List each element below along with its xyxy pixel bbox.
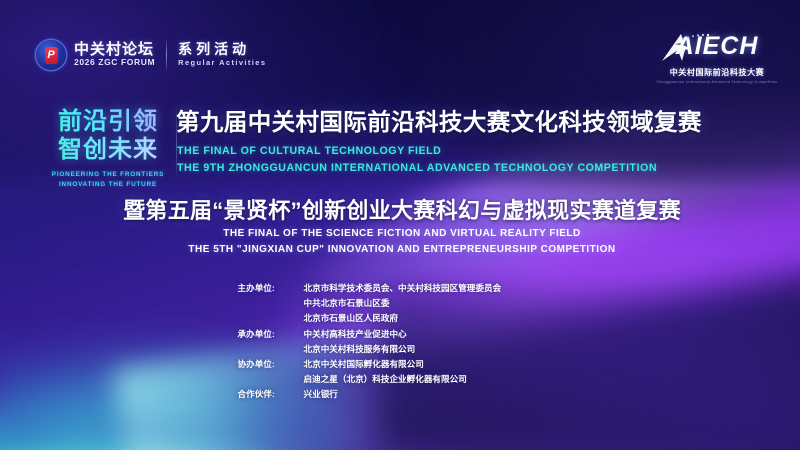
organizer-label: 协办单位: xyxy=(238,360,304,369)
slogan-cn-line1: 前沿引领 xyxy=(44,108,172,136)
organizer-row-inner: 协办单位:北京中关村国际孵化器有限公司 xyxy=(238,360,563,369)
organizer-row-inner: 北京市石景山区人民政府 xyxy=(238,314,563,323)
aiech-dots-icon xyxy=(680,33,716,42)
zgc-forum-logo: P 中关村论坛 2026 ZGC FORUM 系列活动 Regular Acti… xyxy=(36,40,266,70)
slogan-en-line2: INNOVATING THE FUTURE xyxy=(44,180,172,190)
organizer-value: 北京中关村国际孵化器有限公司 xyxy=(304,360,424,369)
organizer-row: 启迪之星（北京）科技企业孵化器有限公司 xyxy=(0,375,800,384)
organizer-row-inner: 启迪之星（北京）科技企业孵化器有限公司 xyxy=(238,375,563,384)
organizer-row-inner: 主办单位:北京市科学技术委员会、中关村科技园区管理委员会 xyxy=(238,284,563,293)
secondary-title-en-line1: THE FINAL OF THE SCIENCE FICTION AND VIR… xyxy=(52,226,752,242)
organizer-row: 协办单位:北京中关村国际孵化器有限公司 xyxy=(0,360,800,369)
secondary-title-en: THE FINAL OF THE SCIENCE FICTION AND VIR… xyxy=(52,226,752,259)
primary-title-cn: 第九届中关村国际前沿科技大赛文化科技领域复赛 xyxy=(176,108,792,137)
slogan-block: 前沿引领 智创未来 PIONEERING THE FRONTIERS INNOV… xyxy=(44,108,172,190)
zgc-emblem-letter: P xyxy=(47,50,54,61)
poster-canvas: P 中关村论坛 2026 ZGC FORUM 系列活动 Regular Acti… xyxy=(0,0,800,450)
aiech-logo: AIECH 中关村国际前沿科技大赛 Zhongguancun Internati… xyxy=(656,34,778,84)
slogan-cn-line2: 智创未来 xyxy=(44,136,172,164)
organizer-list: 主办单位:北京市科学技术委员会、中关村科技园区管理委员会中共北京市石景山区委北京… xyxy=(0,284,800,399)
organizer-label: 合作伙伴: xyxy=(238,390,304,399)
aiech-logo-cn: 中关村国际前沿科技大赛 xyxy=(656,67,778,78)
organizer-row: 主办单位:北京市科学技术委员会、中关村科技园区管理委员会 xyxy=(0,284,800,293)
primary-title-en-line1: THE FINAL OF CULTURAL TECHNOLOGY FIELD xyxy=(177,143,797,160)
slogan-en-line1: PIONEERING THE FRONTIERS xyxy=(44,170,172,180)
organizer-row: 北京中关村科技服务有限公司 xyxy=(0,345,800,354)
organizer-label: 承办单位: xyxy=(238,330,304,339)
slogan-en: PIONEERING THE FRONTIERS INNOVATING THE … xyxy=(44,170,172,190)
organizer-row-inner: 合作伙伴:兴业银行 xyxy=(238,390,563,399)
zgc-logo-cn: 中关村论坛 xyxy=(74,42,155,58)
header-bar: P 中关村论坛 2026 ZGC FORUM 系列活动 Regular Acti… xyxy=(0,0,800,96)
organizer-row: 合作伙伴:兴业银行 xyxy=(0,390,800,399)
organizer-value: 北京市科学技术委员会、中关村科技园区管理委员会 xyxy=(304,284,502,293)
aiech-logo-en: Zhongguancun International Advanced Tech… xyxy=(656,80,778,84)
primary-title-en-line2: THE 9TH ZHONGGUANCUN INTERNATIONAL ADVAN… xyxy=(177,160,797,177)
secondary-title-en-line2: THE 5TH "JINGXIAN CUP" INNOVATION AND EN… xyxy=(52,242,752,258)
organizer-row-inner: 北京中关村科技服务有限公司 xyxy=(238,345,563,354)
organizer-value: 启迪之星（北京）科技企业孵化器有限公司 xyxy=(304,375,467,384)
organizer-label xyxy=(238,345,304,354)
organizer-row: 北京市石景山区人民政府 xyxy=(0,314,800,323)
series-activity-text: 系列活动 Regular Activities xyxy=(178,42,266,69)
secondary-title-cn: 暨第五届“景贤杯”创新创业大赛科幻与虚拟现实赛道复赛 xyxy=(52,198,752,225)
zgc-emblem-icon: P xyxy=(36,40,66,70)
organizer-value: 中关村高科技产业促进中心 xyxy=(304,330,407,339)
organizer-row: 承办单位:中关村高科技产业促进中心 xyxy=(0,330,800,339)
organizer-row-inner: 承办单位:中关村高科技产业促进中心 xyxy=(238,330,563,339)
aiech-wordmark-wrap: AIECH xyxy=(656,34,778,65)
series-activity-en: Regular Activities xyxy=(178,57,266,68)
organizer-value: 中共北京市石景山区委 xyxy=(304,299,390,308)
organizer-row: 中共北京市石景山区委 xyxy=(0,299,800,308)
organizer-label xyxy=(238,314,304,323)
series-activity-cn: 系列活动 xyxy=(178,42,266,57)
zgc-logo-text: 中关村论坛 2026 ZGC FORUM xyxy=(74,42,155,69)
organizer-row-inner: 中共北京市石景山区委 xyxy=(238,299,563,308)
organizer-label xyxy=(238,299,304,308)
logo-divider xyxy=(166,40,167,70)
organizer-value: 北京中关村科技服务有限公司 xyxy=(304,345,416,354)
primary-title-en: THE FINAL OF CULTURAL TECHNOLOGY FIELD T… xyxy=(177,143,797,176)
organizer-value: 兴业银行 xyxy=(304,390,338,399)
organizer-label: 主办单位: xyxy=(238,284,304,293)
zgc-logo-en: 2026 ZGC FORUM xyxy=(74,57,155,68)
organizer-label xyxy=(238,375,304,384)
organizer-value: 北京市石景山区人民政府 xyxy=(304,314,399,323)
aiech-wordmark: AIECH xyxy=(656,34,778,59)
